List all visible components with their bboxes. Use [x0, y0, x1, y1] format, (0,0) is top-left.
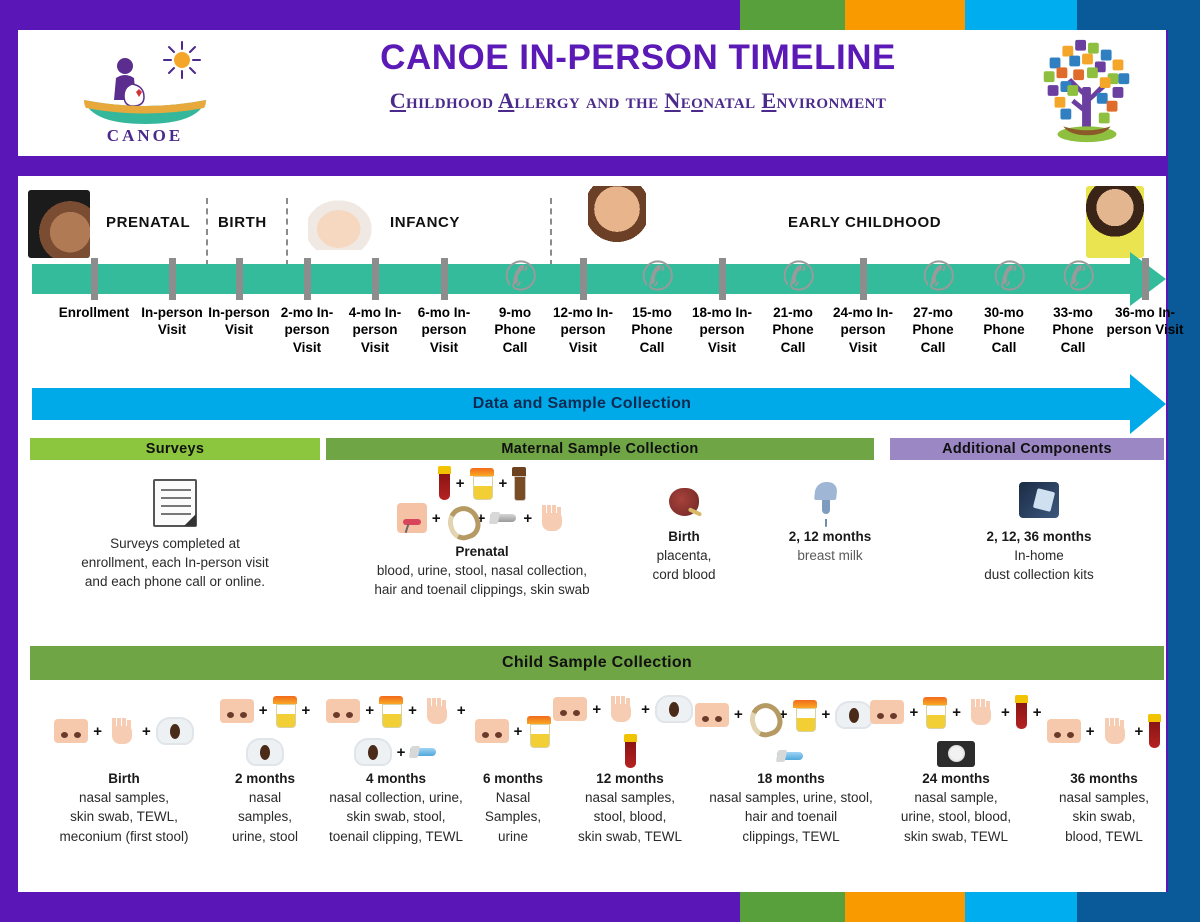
prenatal-text: blood, urine, stool, nasal collection, h… [326, 561, 638, 599]
child-cell-18-months: ++++18 monthsnasal samples, urine, stool… [690, 692, 892, 846]
phone-call-icon-27-mo-phone-call: ✆ [922, 254, 944, 302]
plus-sign: + [592, 701, 601, 718]
breastmilk-text: breast milk [740, 546, 920, 565]
nose-icon [220, 699, 254, 723]
timeline-label-enrollment: Enrollment [45, 304, 143, 321]
plus-sign: + [952, 704, 961, 721]
hand-skin-swab-icon [966, 697, 996, 727]
child-cell-24-months: ++++24 monthsnasal sample,urine, stool, … [870, 692, 1042, 846]
color-band-cyan [965, 892, 1077, 922]
body-panel: PRENATALBIRTHINFANCYEARLY CHILDHOOD ✆✆✆✆… [18, 176, 1166, 900]
timeline-tick-36-mo-in-person-visit [1142, 258, 1149, 300]
tewl-meter-icon [937, 741, 975, 767]
canoe-logo-icon [70, 36, 220, 128]
hair-lock-icon [446, 504, 472, 532]
diaper-stool-icon [246, 738, 284, 766]
timeline-label-15-mo-phone-call: 15-mo Phone Call [621, 304, 683, 356]
hand-skin-swab-icon [107, 716, 137, 746]
diaper-stool-icon [655, 695, 693, 723]
plus-sign: + [397, 744, 406, 761]
plus-sign: + [523, 510, 532, 527]
phone-call-icon-15-mo-phone-call: ✆ [641, 254, 663, 302]
diaper-stool-icon [354, 738, 392, 766]
child-cell-text: nasal samples, urine, stool,hair and toe… [690, 788, 892, 845]
prenatal-icons-row-2: + + + [326, 503, 638, 533]
color-band-dark-blue [1077, 0, 1200, 30]
color-band-orange [845, 892, 965, 922]
timeline-tick-enrollment [91, 258, 98, 300]
timeline-tick-4-mo-in-person-visit [372, 258, 379, 300]
birth-text: placenta, cord blood [606, 546, 762, 584]
timeline-label-36-mo-in-person-visit: 36-mo In-person Visit [1099, 304, 1191, 339]
plus-sign: + [142, 723, 151, 740]
timeline-label-21-mo-phone-call: 21-mo Phone Call [762, 304, 824, 356]
era-divider-1 [286, 198, 288, 266]
hair-lock-icon [748, 701, 774, 729]
canoe-logo: CANOE [70, 36, 220, 148]
child-cell-header: 36 months [1034, 770, 1174, 788]
maternal-prenatal-cell: + + + + + Prenatal blood, urine, stool, … [326, 466, 638, 600]
child-cell-header: 18 months [690, 770, 892, 788]
urine-cup-icon [793, 700, 817, 730]
child-cell-header: 12 months [546, 770, 714, 788]
child-cell-text: nasal samples,stool, blood,skin swab, TE… [546, 788, 714, 845]
birth-header: Birth [606, 528, 762, 546]
blood-tube-icon [438, 466, 451, 500]
timeline-label-2-mo-in-person-visit: 2-mo In-person Visit [276, 304, 338, 356]
timeline-tick-2-mo-in-person-visit [304, 258, 311, 300]
child-cell-text: nasal samples,skin swab,blood, TEWL [1034, 788, 1174, 845]
header-panel: CANOE CANOE IN-PERSON TIMELINE Childhood… [18, 22, 1166, 156]
prenatal-icons-row-1: + + [326, 466, 638, 500]
era-divider-0 [206, 198, 208, 266]
surveys-icons [44, 472, 306, 534]
plus-sign: + [408, 702, 417, 719]
breast-pump-icon [813, 480, 847, 520]
section-bar-maternal: Maternal Sample Collection [326, 438, 874, 460]
nose-icon [870, 700, 904, 724]
era-label-infancy: INFANCY [390, 214, 460, 231]
timeline-label-24-mo-in-person-visit: 24-mo In-person Visit [832, 304, 894, 356]
surveys-text: Surveys completed at enrollment, each In… [44, 534, 306, 591]
pregnant-belly-photo [28, 190, 90, 258]
plus-sign: + [365, 702, 374, 719]
maternal-birth-cell: Birth placenta, cord blood [606, 476, 762, 585]
dust-header: 2, 12, 36 months [928, 528, 1150, 546]
era-label-birth: BIRTH [218, 214, 267, 231]
nasal-swab-icon [397, 503, 427, 533]
newborn-photo [308, 200, 372, 250]
canoe-logo-text: CANOE [70, 126, 220, 146]
plus-sign: + [514, 723, 523, 740]
plus-sign: + [93, 723, 102, 740]
plus-sign: + [1135, 723, 1144, 740]
urine-cup-icon [923, 697, 947, 727]
nose-icon [553, 697, 587, 721]
toddler-girl-photo [1086, 186, 1144, 258]
child-cell-header: Birth [26, 770, 222, 788]
plus-sign: + [822, 706, 831, 723]
plus-sign: + [259, 702, 268, 719]
color-band-purple [0, 892, 740, 922]
dust-collection-kit-icon [1019, 482, 1059, 518]
era-divider-2 [550, 198, 552, 266]
plus-sign: + [641, 701, 650, 718]
breastmilk-header: 2, 12 months [740, 528, 920, 546]
child-icons-row: ++++ [870, 692, 1042, 770]
timeline-label-9-mo-phone-call: 9-mo Phone Call [484, 304, 546, 356]
blood-tube-icon [1148, 714, 1161, 748]
phone-call-icon-9-mo-phone-call: ✆ [504, 254, 526, 302]
birth-icons [606, 476, 762, 528]
page-subtitle: Childhood Allergy and the Neonatal Envir… [248, 88, 1028, 114]
plus-sign: + [1001, 704, 1010, 721]
era-label-early-childhood: EARLY CHILDHOOD [788, 214, 941, 231]
phone-call-icon-33-mo-phone-call: ✆ [1062, 254, 1084, 302]
title-block: CANOE IN-PERSON TIMELINE Childhood Aller… [248, 36, 1028, 114]
plus-sign: + [734, 706, 743, 723]
diaper-stool-icon [156, 717, 194, 745]
urine-cup-icon [273, 696, 297, 726]
additional-dust-cell: 2, 12, 36 months In-home dust collection… [928, 472, 1150, 585]
phone-call-icon-21-mo-phone-call: ✆ [782, 254, 804, 302]
child-cell-header: 24 months [870, 770, 1042, 788]
plus-sign: + [909, 704, 918, 721]
color-band-green [740, 0, 845, 30]
plus-sign: + [432, 510, 441, 527]
color-band-orange [845, 0, 965, 30]
diaper-stool-icon [835, 701, 873, 729]
timeline-label-12-mo-in-person-visit: 12-mo In-person Visit [552, 304, 614, 356]
nose-icon [326, 699, 360, 723]
page-title: CANOE IN-PERSON TIMELINE [248, 36, 1028, 80]
section-bar-surveys: Surveys [30, 438, 320, 460]
hand-skin-swab-icon [606, 694, 636, 724]
puzzle-tree-icon [1028, 30, 1146, 148]
poster-root: CANOE CANOE IN-PERSON TIMELINE Childhood… [0, 0, 1200, 922]
survey-clipboard-icon [153, 479, 197, 527]
timeline-tick-24-mo-in-person-visit [860, 258, 867, 300]
maternal-breastmilk-cell: 2, 12 months breast milk [740, 472, 920, 565]
surveys-cell: Surveys completed at enrollment, each In… [44, 472, 306, 591]
section-bar-child: Child Sample Collection [30, 646, 1164, 680]
toddler-photo [588, 186, 646, 258]
blood-tube-icon [624, 734, 637, 768]
hand-skin-swab-icon [422, 696, 452, 726]
nail-clipper-icon [490, 512, 518, 524]
timeline-tick-in-person-visit [169, 258, 176, 300]
timeline-tick-12-mo-in-person-visit [580, 258, 587, 300]
timeline-label-30-mo-phone-call: 30-mo Phone Call [973, 304, 1035, 356]
timeline-label-in-person-visit: In-person Visit [208, 304, 270, 339]
dust-text: In-home dust collection kits [928, 546, 1150, 584]
nose-icon [1047, 719, 1081, 743]
child-cell-text: nasal sample,urine, stool, blood,skin sw… [870, 788, 1042, 845]
timeline-label-6-mo-in-person-visit: 6-mo In-person Visit [413, 304, 475, 356]
timeline-label-27-mo-phone-call: 27-mo Phone Call [902, 304, 964, 356]
child-icons-row: ++++ [690, 692, 892, 770]
urine-cup-icon [470, 468, 494, 498]
era-label-prenatal: PRENATAL [106, 214, 190, 231]
plus-sign: + [456, 475, 465, 492]
nose-icon [695, 703, 729, 727]
timeline-tick-6-mo-in-person-visit [441, 258, 448, 300]
nose-icon [475, 719, 509, 743]
nose-icon [54, 719, 88, 743]
plus-sign: + [1086, 723, 1095, 740]
hand-skin-swab-icon [537, 503, 567, 533]
color-band-dark-blue [1077, 892, 1200, 922]
hand-skin-swab-icon [1100, 716, 1130, 746]
plus-sign: + [499, 475, 508, 492]
data-sample-collection-arrowhead [1130, 374, 1166, 434]
breastmilk-icons [740, 472, 920, 528]
timeline-tick-in-person-visit [236, 258, 243, 300]
placenta-icon [669, 488, 699, 516]
color-band-cyan [965, 0, 1077, 30]
child-icons-row: ++ [26, 692, 222, 770]
data-sample-collection-bar: Data and Sample Collection [32, 388, 1132, 420]
child-icons-row: +++ [546, 692, 714, 770]
child-cell-birth: ++Birthnasal samples,skin swab, TEWL,mec… [26, 692, 222, 846]
section-bar-additional: Additional Components [890, 438, 1164, 460]
urine-cup-icon [379, 696, 403, 726]
color-band-purple [0, 0, 740, 30]
child-cell-12-months: +++12 monthsnasal samples,stool, blood,s… [546, 692, 714, 846]
blood-tube-icon [1015, 695, 1028, 729]
phone-call-icon-30-mo-phone-call: ✆ [993, 254, 1015, 302]
timeline-label-33-mo-phone-call: 33-mo Phone Call [1042, 304, 1104, 356]
stool-tube-icon [512, 467, 526, 499]
prenatal-header: Prenatal [326, 543, 638, 561]
timeline-tick-18-mo-in-person-visit [719, 258, 726, 300]
child-cell-36-months: ++36 monthsnasal samples,skin swab,blood… [1034, 692, 1174, 846]
timeline-label-in-person-visit: In-person Visit [141, 304, 203, 339]
color-band-green [740, 892, 845, 922]
timeline-label-18-mo-in-person-visit: 18-mo In-person Visit [691, 304, 753, 356]
dust-icons [928, 472, 1150, 528]
child-icons-row: ++ [1034, 692, 1174, 770]
nail-clipper-icon [777, 750, 805, 762]
nail-clipper-icon [410, 746, 438, 758]
child-cell-text: nasal samples,skin swab, TEWL,meconium (… [26, 788, 222, 845]
timeline-label-4-mo-in-person-visit: 4-mo In-person Visit [344, 304, 406, 356]
